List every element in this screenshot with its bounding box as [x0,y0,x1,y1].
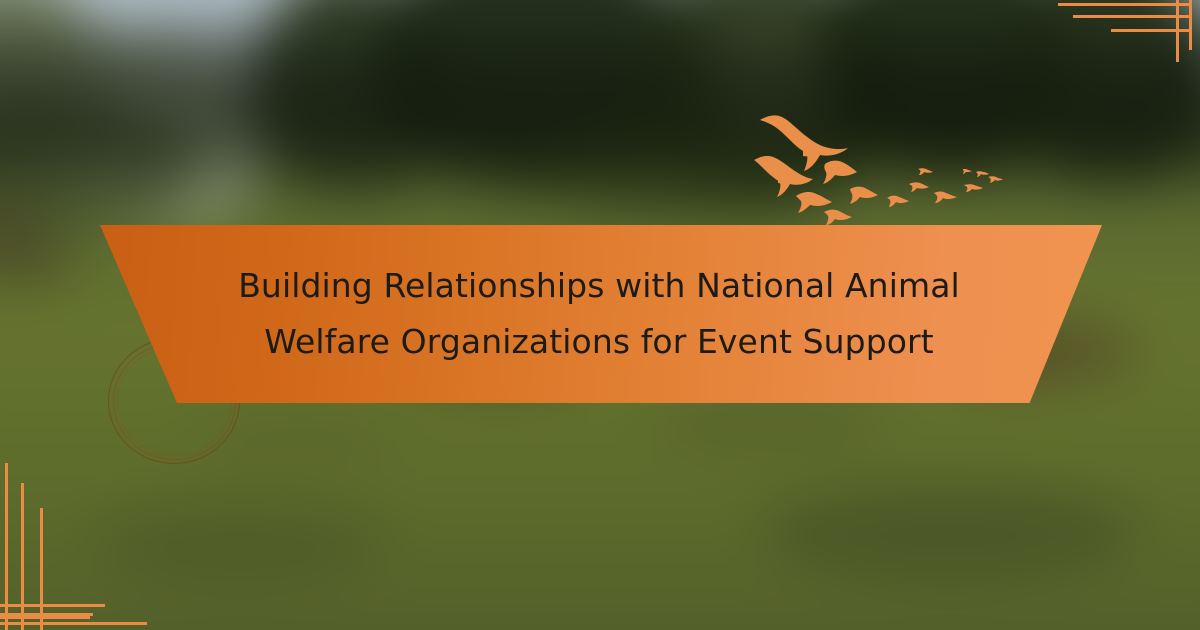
background-shadow-band [0,0,1200,185]
background-blur-blob [760,485,1140,575]
ornament-line-horizontal [1073,15,1192,18]
ornament-line-horizontal [1111,29,1192,32]
ornament-line-vertical [1176,0,1179,62]
birds-flying-flock-icon [752,112,1020,234]
background-blur-blob [90,500,390,580]
ornament-line-horizontal [0,622,147,625]
page-title: Building Relationships with National Ani… [209,258,989,370]
title-banner: Building Relationships with National Ani… [96,225,1102,403]
ornament-line-horizontal [0,613,93,616]
ornament-line-horizontal [1058,3,1192,6]
ornament-line-horizontal [0,604,105,607]
ornament-line-vertical [21,483,24,630]
poster-canvas: Building Relationships with National Ani… [0,0,1200,630]
ornament-line-vertical [1189,0,1192,50]
ornament-line-vertical [40,508,43,630]
